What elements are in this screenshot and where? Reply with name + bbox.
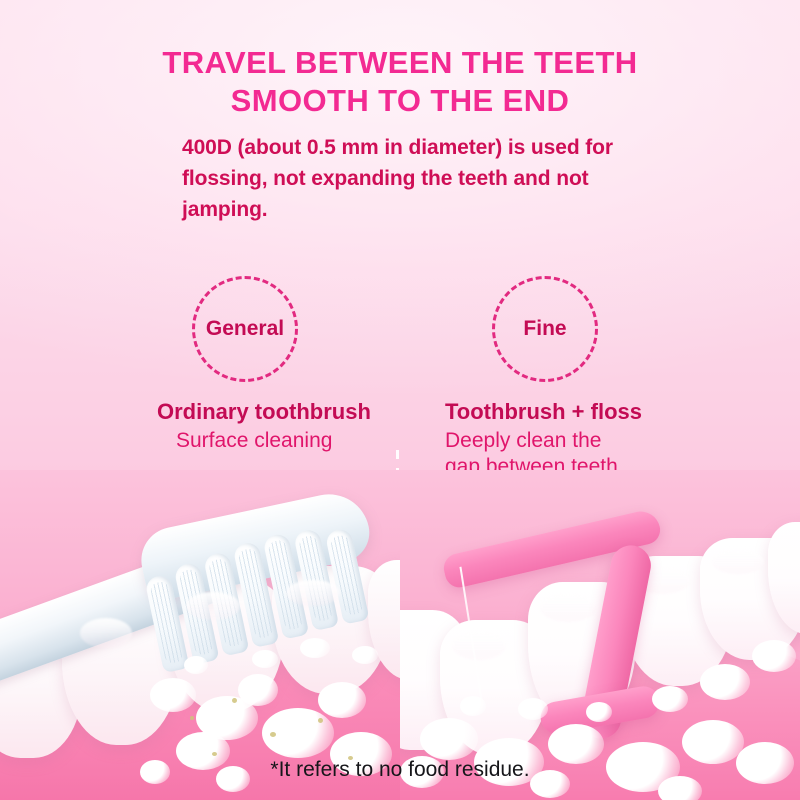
headline-line-2: SMOOTH TO THE END xyxy=(0,82,800,120)
foam-cluster xyxy=(652,686,688,712)
foam-cluster xyxy=(300,638,330,658)
caption-subtitle-general: Surface cleaning xyxy=(176,428,332,454)
illustration-floss-pick xyxy=(400,470,800,800)
foam-cluster xyxy=(238,674,278,706)
comparison-column-general: General Ordinary toothbrush Surface clea… xyxy=(0,276,400,486)
caption-subtitle-fine-line-1: Deeply clean the xyxy=(445,428,675,454)
badge-fine-label: Fine xyxy=(523,317,566,341)
foam-cluster xyxy=(700,664,750,700)
foam-cluster xyxy=(318,682,366,718)
foam-cluster xyxy=(352,646,378,664)
foam-cluster xyxy=(252,650,278,668)
caption-title-fine: Toothbrush + floss xyxy=(445,398,642,425)
footnote: *It refers to no food residue. xyxy=(0,758,800,782)
badge-fine: Fine xyxy=(492,276,598,382)
foam-cluster xyxy=(518,698,548,720)
foam-cluster xyxy=(460,696,486,716)
badge-general: General xyxy=(192,276,298,382)
page-title: TRAVEL BETWEEN THE TEETH SMOOTH TO THE E… xyxy=(0,44,800,120)
lead-paragraph: 400D (about 0.5 mm in diameter) is used … xyxy=(182,132,622,225)
foam-cluster xyxy=(752,640,796,672)
foam-cluster xyxy=(420,718,478,760)
promo-poster: TRAVEL BETWEEN THE TEETH SMOOTH TO THE E… xyxy=(0,0,800,800)
illustration-band xyxy=(0,470,800,800)
caption-title-general: Ordinary toothbrush xyxy=(157,398,371,425)
illustration-toothbrush xyxy=(0,470,400,800)
comparison-section: General Ordinary toothbrush Surface clea… xyxy=(0,276,800,486)
foam-cluster xyxy=(150,678,196,712)
badge-general-label: General xyxy=(206,317,284,341)
foam-cluster xyxy=(586,702,612,722)
headline-line-1: TRAVEL BETWEEN THE TEETH xyxy=(162,45,637,80)
foam-cluster xyxy=(184,656,208,674)
comparison-column-fine: Fine Toothbrush + floss Deeply clean the… xyxy=(400,276,800,486)
